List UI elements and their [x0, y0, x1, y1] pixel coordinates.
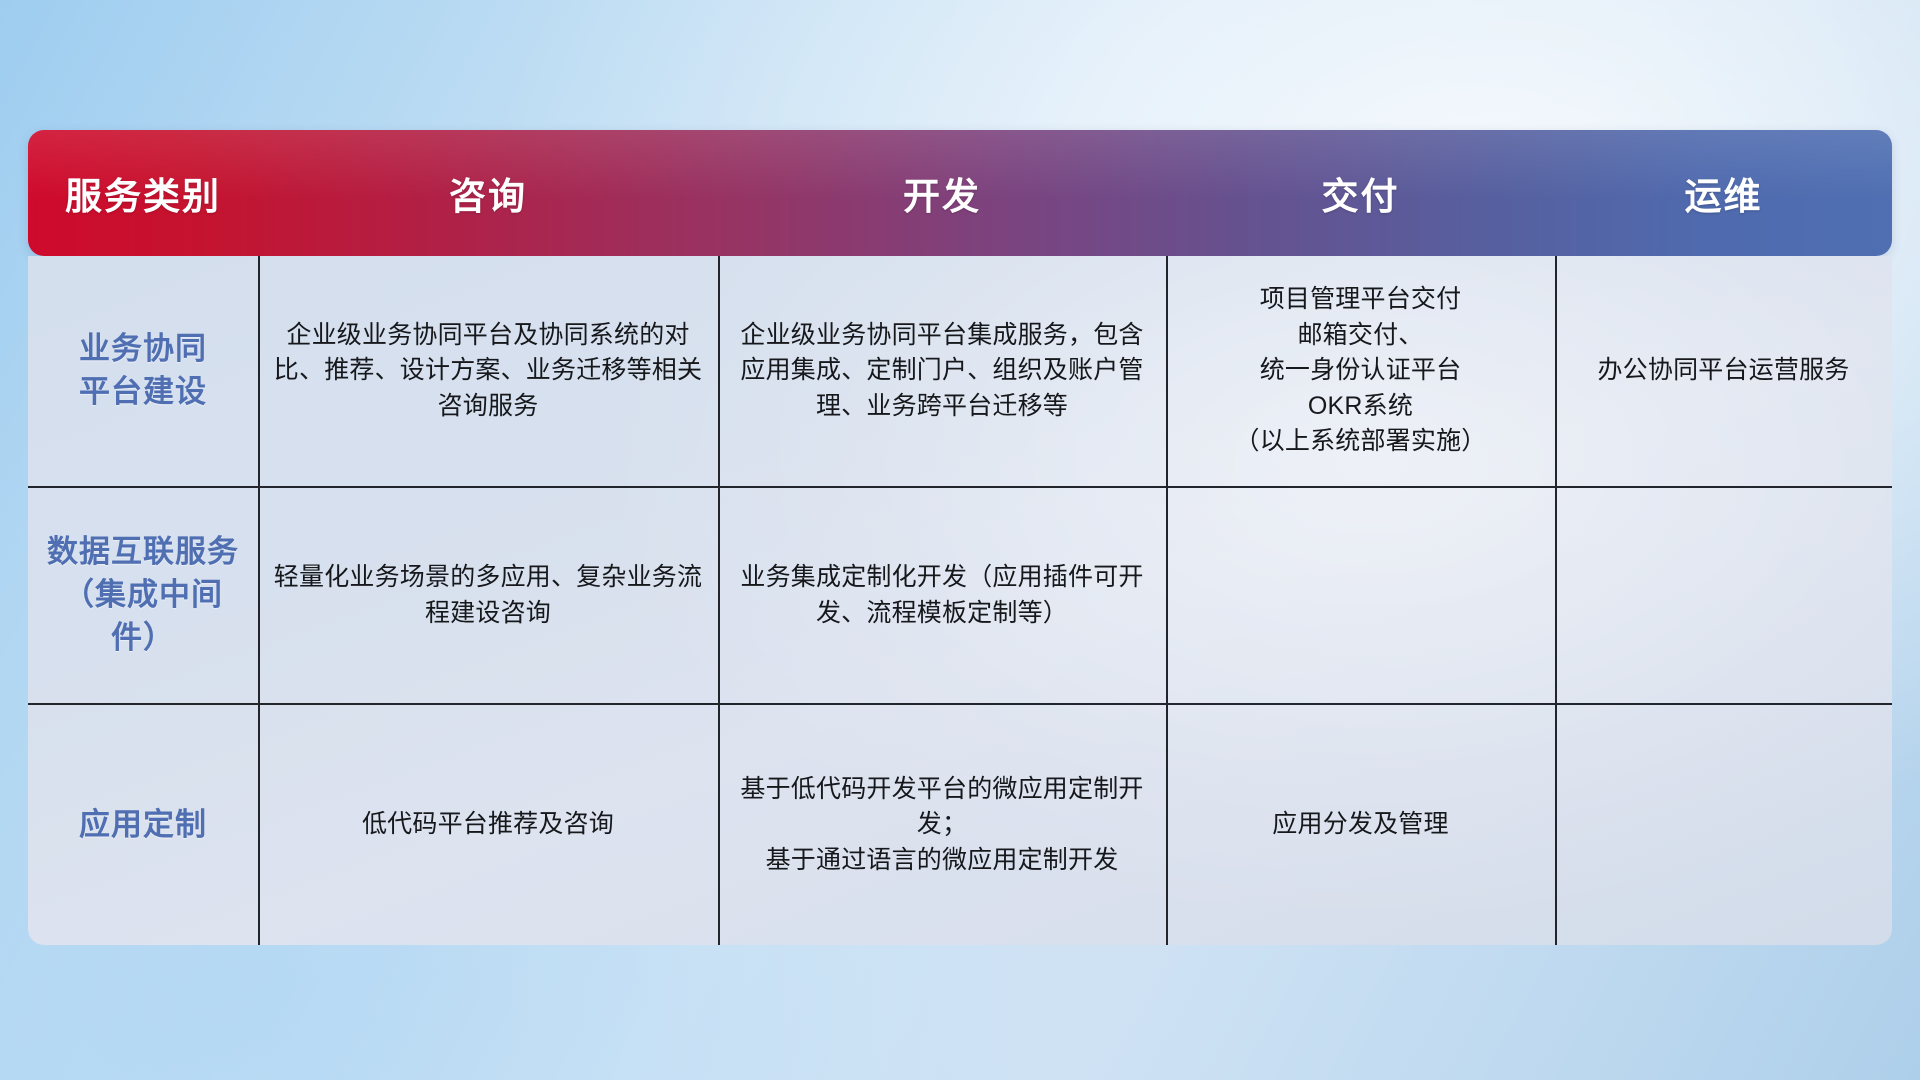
- table-row: 应用定制 低代码平台推荐及咨询 基于低代码开发平台的微应用定制开发； 基于通过语…: [28, 703, 1892, 945]
- table-body: 业务协同 平台建设 企业级业务协同平台及协同系统的对比、推荐、设计方案、业务迁移…: [28, 256, 1892, 945]
- cell-category: 数据互联服务 （集成中间件）: [28, 488, 258, 703]
- cell-text: 轻量化业务场景的多应用、复杂业务流程建设咨询: [270, 560, 706, 631]
- column-header-category: 服务类别: [28, 130, 258, 256]
- table-row: 数据互联服务 （集成中间件） 轻量化业务场景的多应用、复杂业务流程建设咨询 业务…: [28, 486, 1892, 703]
- cell-operations: 办公协同平台运营服务: [1555, 256, 1892, 486]
- cell-operations: [1555, 488, 1892, 703]
- table-header-row: 服务类别 咨询 开发 交付 运维: [28, 130, 1892, 256]
- cell-text: 基于低代码开发平台的微应用定制开发； 基于通过语言的微应用定制开发: [730, 772, 1154, 879]
- cell-development: 基于低代码开发平台的微应用定制开发； 基于通过语言的微应用定制开发: [718, 705, 1166, 945]
- cell-consulting: 低代码平台推荐及咨询: [258, 705, 718, 945]
- category-label: 应用定制: [79, 804, 207, 847]
- cell-text: 办公协同平台运营服务: [1597, 353, 1849, 389]
- cell-delivery: 应用分发及管理: [1166, 705, 1555, 945]
- cell-text: 低代码平台推荐及咨询: [362, 807, 614, 843]
- cell-text: 企业级业务协同平台及协同系统的对比、推荐、设计方案、业务迁移等相关咨询服务: [270, 318, 706, 425]
- cell-category: 应用定制: [28, 705, 258, 945]
- table-row: 业务协同 平台建设 企业级业务协同平台及协同系统的对比、推荐、设计方案、业务迁移…: [28, 256, 1892, 486]
- cell-text: 应用分发及管理: [1272, 807, 1448, 843]
- cell-delivery: [1166, 488, 1555, 703]
- column-header-delivery: 交付: [1166, 130, 1555, 256]
- column-header-operations: 运维: [1555, 130, 1892, 256]
- cell-development: 企业级业务协同平台集成服务，包含应用集成、定制门户、组织及账户管理、业务跨平台迁…: [718, 256, 1166, 486]
- cell-consulting: 轻量化业务场景的多应用、复杂业务流程建设咨询: [258, 488, 718, 703]
- category-label: 业务协同 平台建设: [79, 328, 207, 414]
- cell-consulting: 企业级业务协同平台及协同系统的对比、推荐、设计方案、业务迁移等相关咨询服务: [258, 256, 718, 486]
- category-label: 数据互联服务 （集成中间件）: [40, 531, 246, 659]
- cell-development: 业务集成定制化开发（应用插件可开发、流程模板定制等）: [718, 488, 1166, 703]
- cell-text: 企业级业务协同平台集成服务，包含应用集成、定制门户、组织及账户管理、业务跨平台迁…: [730, 318, 1154, 425]
- cell-delivery: 项目管理平台交付 邮箱交付、 统一身份认证平台 OKR系统 （以上系统部署实施）: [1166, 256, 1555, 486]
- cell-text: 业务集成定制化开发（应用插件可开发、流程模板定制等）: [730, 560, 1154, 631]
- column-header-consulting: 咨询: [258, 130, 718, 256]
- cell-text: 项目管理平台交付 邮箱交付、 统一身份认证平台 OKR系统 （以上系统部署实施）: [1234, 282, 1486, 460]
- slide-canvas: 服务类别 咨询 开发 交付 运维 业务协同 平台建设 企业级业务协同平台及协同系…: [0, 0, 1920, 1080]
- service-category-table: 服务类别 咨询 开发 交付 运维 业务协同 平台建设 企业级业务协同平台及协同系…: [28, 130, 1892, 945]
- column-header-development: 开发: [718, 130, 1166, 256]
- cell-category: 业务协同 平台建设: [28, 256, 258, 486]
- cell-operations: [1555, 705, 1892, 945]
